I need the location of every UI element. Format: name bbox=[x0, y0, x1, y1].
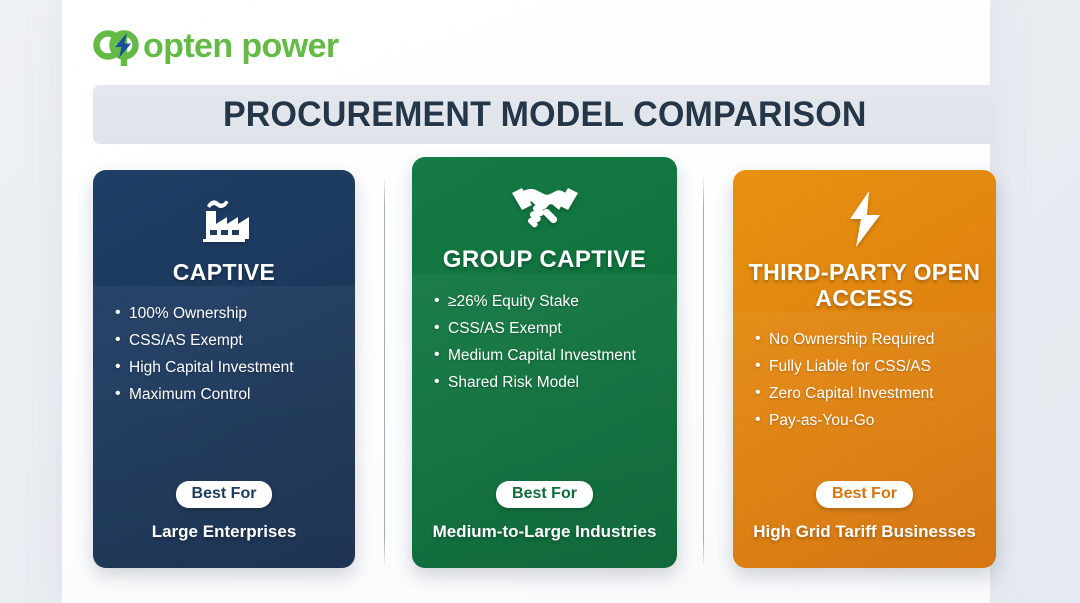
handshake-icon bbox=[506, 175, 584, 237]
list-item: Maximum Control bbox=[129, 384, 341, 406]
list-item: Pay-as-You-Go bbox=[769, 410, 982, 432]
list-item: Zero Capital Investment bbox=[769, 383, 982, 405]
card-title: GROUP CAPTIVE bbox=[435, 247, 654, 274]
card-title: CAPTIVE bbox=[165, 260, 283, 286]
list-item: High Capital Investment bbox=[129, 357, 341, 379]
card-body: 100% Ownership CSS/AS Exempt High Capita… bbox=[93, 286, 355, 568]
card-third-party-open-access[interactable]: THIRD-PARTY OPEN ACCESS No Ownership Req… bbox=[733, 170, 996, 568]
card-header: GROUP CAPTIVE bbox=[412, 157, 677, 274]
feature-list: 100% Ownership CSS/AS Exempt High Capita… bbox=[107, 303, 341, 411]
feature-list: No Ownership Required Fully Liable for C… bbox=[747, 329, 982, 437]
list-item: CSS/AS Exempt bbox=[448, 318, 663, 340]
list-item: Fully Liable for CSS/AS bbox=[769, 356, 982, 378]
card-captive[interactable]: CAPTIVE 100% Ownership CSS/AS Exempt Hig… bbox=[93, 170, 355, 568]
best-for-text: Large Enterprises bbox=[152, 521, 297, 544]
card-footer: Best For Large Enterprises bbox=[107, 481, 341, 568]
card-divider-2 bbox=[703, 175, 704, 569]
comparison-cards: CAPTIVE 100% Ownership CSS/AS Exempt Hig… bbox=[0, 0, 1080, 603]
card-group-captive[interactable]: GROUP CAPTIVE ≥26% Equity Stake CSS/AS E… bbox=[412, 157, 677, 568]
card-header: THIRD-PARTY OPEN ACCESS bbox=[733, 170, 996, 312]
list-item: ≥26% Equity Stake bbox=[448, 291, 663, 313]
lightning-bolt-icon bbox=[842, 188, 888, 250]
card-body: No Ownership Required Fully Liable for C… bbox=[733, 312, 996, 569]
list-item: No Ownership Required bbox=[769, 329, 982, 351]
best-for-text: Medium-to-Large Industries bbox=[433, 521, 657, 544]
best-for-badge: Best For bbox=[816, 481, 913, 508]
factory-icon bbox=[192, 188, 256, 250]
feature-list: ≥26% Equity Stake CSS/AS Exempt Medium C… bbox=[426, 291, 663, 399]
card-footer: Best For Medium-to-Large Industries bbox=[426, 481, 663, 568]
card-divider-1 bbox=[384, 175, 385, 569]
list-item: Medium Capital Investment bbox=[448, 345, 663, 367]
card-title: THIRD-PARTY OPEN ACCESS bbox=[733, 260, 996, 312]
list-item: Shared Risk Model bbox=[448, 372, 663, 394]
best-for-text: High Grid Tariff Businesses bbox=[753, 521, 976, 544]
card-header: CAPTIVE bbox=[93, 170, 355, 286]
best-for-badge: Best For bbox=[176, 481, 273, 508]
list-item: 100% Ownership bbox=[129, 303, 341, 325]
card-footer: Best For High Grid Tariff Businesses bbox=[747, 481, 982, 568]
list-item: CSS/AS Exempt bbox=[129, 330, 341, 352]
best-for-badge: Best For bbox=[496, 481, 593, 508]
card-body: ≥26% Equity Stake CSS/AS Exempt Medium C… bbox=[412, 274, 677, 568]
